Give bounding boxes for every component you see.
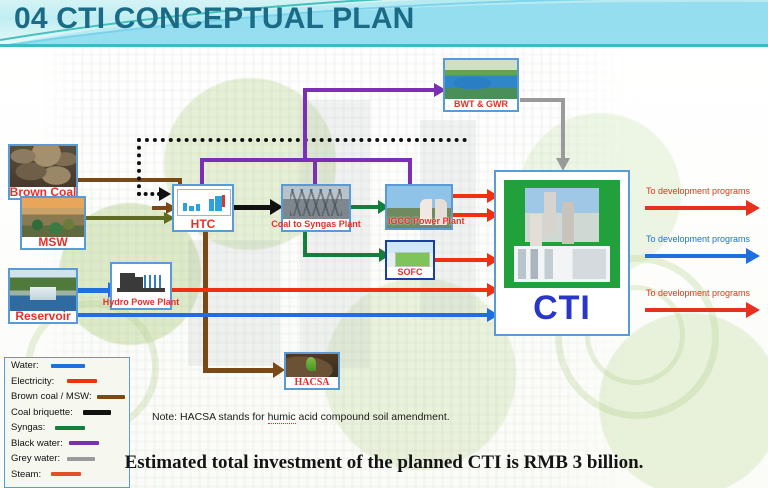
legend-swatch-briquette xyxy=(83,410,111,415)
arrowhead-output-1 xyxy=(746,200,760,216)
output-label-2: To development programs xyxy=(646,234,750,244)
line-coal-briquette-in xyxy=(137,192,161,196)
legend-swatch-electricity xyxy=(67,379,97,383)
line-reservoir-water xyxy=(77,313,490,317)
legend-item: Black water: xyxy=(5,436,129,452)
line-htc-down xyxy=(203,232,208,372)
arrowhead-output-3 xyxy=(746,302,760,318)
node-cti[interactable]: CTI xyxy=(494,170,630,336)
header-underline xyxy=(0,44,768,47)
line-output-1 xyxy=(645,206,750,210)
node-label-htc: HTC xyxy=(190,219,217,230)
cti-plant-photo xyxy=(525,188,599,242)
node-label-cti: CTI xyxy=(496,289,628,328)
node-label-igcc: IGCC Power Plant xyxy=(387,216,451,227)
line-blackwater-riser xyxy=(303,88,307,162)
brown-coal-thumbnail xyxy=(10,146,76,187)
note-prefix: Note: HACSA stands for xyxy=(152,411,268,423)
legend-item: Coal briquette: xyxy=(5,405,129,421)
investment-summary: Estimated total investment of the planne… xyxy=(0,452,768,474)
hacsa-note: Note: HACSA stands for humic acid compou… xyxy=(152,411,450,423)
line-coal-briquette-left xyxy=(137,138,141,196)
line-brown-coal xyxy=(77,178,182,182)
node-label-syngas: Coal to Syngas Plant xyxy=(270,219,362,230)
node-reservoir[interactable]: Reservoir xyxy=(8,268,78,324)
slide-canvas: 04 CTI CONCEPTUAL PLAN xyxy=(0,0,768,488)
arrowhead-output-2 xyxy=(746,248,760,264)
node-label-sofc: SOFC xyxy=(396,267,423,278)
legend-swatch-browncoal xyxy=(97,395,125,399)
node-label-hydro: Hydro Powe Plant xyxy=(102,297,181,308)
note-underlined: humic xyxy=(268,411,296,424)
cti-facility-photo xyxy=(514,246,610,282)
hydro-power-plant-icon xyxy=(112,264,170,297)
node-hacsa[interactable]: HACSA xyxy=(284,352,340,390)
msw-thumbnail xyxy=(22,198,84,237)
legend-item: Water: xyxy=(5,358,129,374)
line-htc-to-syngas xyxy=(232,205,274,210)
legend-label: Syngas: xyxy=(11,422,45,433)
arrowhead-coal-briquette xyxy=(159,187,171,201)
line-blackwater-top xyxy=(303,88,438,92)
legend-swatch-blackwater xyxy=(69,441,99,445)
legend-label: Brown coal / MSW: xyxy=(11,391,92,402)
line-output-2 xyxy=(645,254,750,258)
line-sofc-out xyxy=(432,258,490,262)
node-label-bwt: BWT & GWR xyxy=(453,99,509,110)
node-label-hacsa: HACSA xyxy=(293,377,330,388)
node-hydro-power-plant[interactable]: Hydro Powe Plant xyxy=(110,262,172,310)
sofc-thumbnail xyxy=(387,242,433,267)
legend-label: Coal briquette: xyxy=(11,407,73,418)
line-syngas-to-sofc xyxy=(303,253,383,257)
node-sofc[interactable]: SOFC xyxy=(385,240,435,280)
note-suffix: acid compound soil amendment. xyxy=(296,411,450,423)
line-output-3 xyxy=(645,308,750,312)
line-coal-briquette-top xyxy=(137,138,467,142)
legend-label: Water: xyxy=(11,360,39,371)
line-htc-to-hacsa xyxy=(203,368,278,373)
node-label-reservoir: Reservoir xyxy=(14,311,71,322)
line-hydro-electricity xyxy=(170,288,490,292)
line-igcc-out-1 xyxy=(452,194,490,198)
line-msw xyxy=(77,216,167,220)
node-brown-coal[interactable]: Brown Coal xyxy=(8,144,78,200)
legend-item: Brown coal / MSW: xyxy=(5,389,129,405)
legend-item: Electricity: xyxy=(5,374,129,390)
legend-label: Electricity: xyxy=(11,376,54,387)
slide-header: 04 CTI CONCEPTUAL PLAN xyxy=(0,0,768,46)
node-msw[interactable]: MSW xyxy=(20,196,86,250)
bwt-gwr-thumbnail xyxy=(445,60,517,99)
line-greywater-v xyxy=(561,98,565,160)
node-label-msw: MSW xyxy=(37,237,68,248)
page-title: 04 CTI CONCEPTUAL PLAN xyxy=(14,2,415,36)
hacsa-thumbnail xyxy=(286,354,338,377)
cti-image-panel xyxy=(504,180,620,288)
line-greywater-h xyxy=(520,98,565,102)
reservoir-thumbnail xyxy=(10,270,76,311)
htc-bar-chart-icon xyxy=(174,186,232,219)
output-label-3: To development programs xyxy=(646,288,750,298)
node-igcc-power-plant[interactable]: IGCC Power Plant xyxy=(385,184,453,230)
node-bwt-gwr[interactable]: BWT & GWR xyxy=(443,58,519,112)
legend-label: Black water: xyxy=(11,438,63,449)
node-htc[interactable]: HTC xyxy=(172,184,234,232)
node-coal-to-syngas-plant[interactable]: Coal to Syngas Plant xyxy=(281,184,351,232)
legend-swatch-syngas xyxy=(55,426,85,430)
syngas-plant-thumbnail xyxy=(283,186,349,219)
legend-swatch-water xyxy=(51,364,85,368)
output-label-1: To development programs xyxy=(646,186,750,196)
background-band xyxy=(188,240,280,366)
legend-item: Syngas: xyxy=(5,420,129,436)
